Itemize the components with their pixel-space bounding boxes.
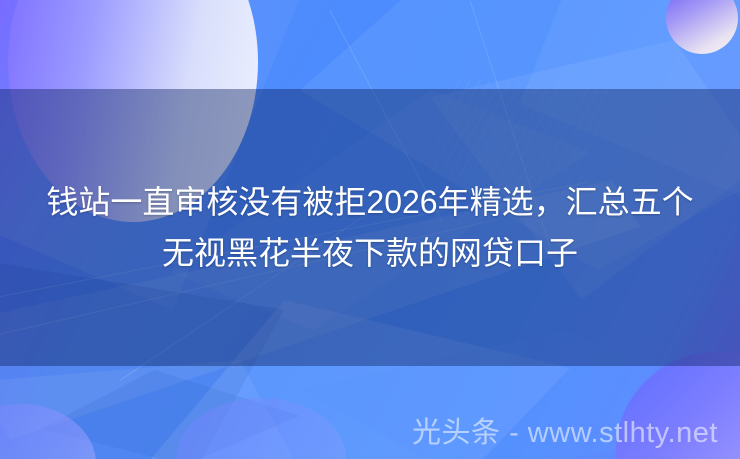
cover-banner: 钱站一直审核没有被拒2026年精选，汇总五个无视黑花半夜下款的网贷口子 光头条 … — [0, 0, 740, 459]
headline-block: 钱站一直审核没有被拒2026年精选，汇总五个无视黑花半夜下款的网贷口子 — [0, 89, 740, 366]
site-watermark: 光头条 - www.stlhty.net — [412, 415, 718, 451]
headline-title: 钱站一直审核没有被拒2026年精选，汇总五个无视黑花半夜下款的网贷口子 — [46, 177, 694, 279]
